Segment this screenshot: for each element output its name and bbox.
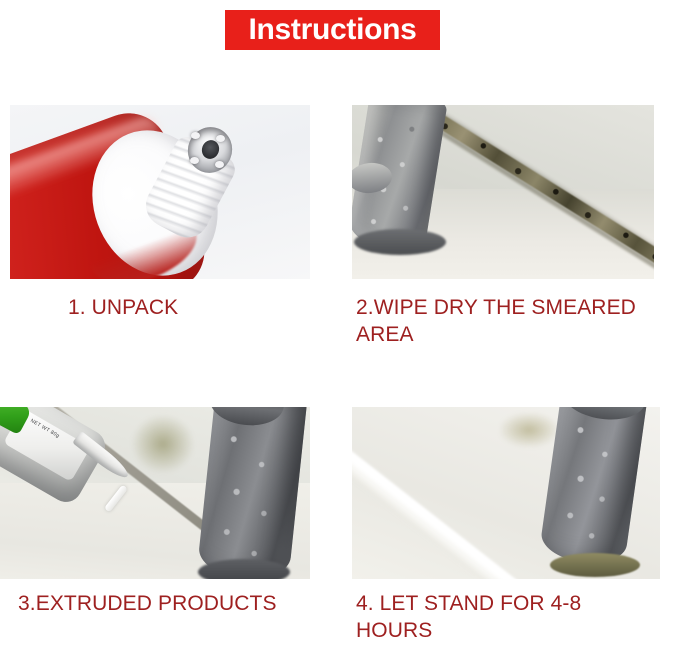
page-title: Instructions [248,15,416,45]
step-3-caption: 3.EXTRUDED PRODUCTS [18,591,310,618]
grime-patch [500,413,558,447]
step-1-caption: 1. UNPACK [68,295,310,322]
faucet-base [550,553,640,577]
step-4-photo [352,407,660,579]
step-2: 2.WIPE DRY THE SMEARED AREA [352,105,654,349]
nozzle-notch [190,157,199,164]
step-3: NET WT 80g 3.EXTRUDED PRODUCTS [0,407,310,618]
step-3-photo: NET WT 80g [0,407,310,579]
faucet-base [354,229,446,255]
step-2-photo [352,105,654,279]
step-1: 1. UNPACK [10,105,310,322]
instructions-banner: Instructions [225,10,440,50]
nozzle-notch [191,132,200,139]
nozzle-notch [215,161,224,168]
grime-patch [132,415,194,473]
step-4-caption: 4. LET STAND FOR 4-8 HOURS [356,591,660,645]
step-4: 4. LET STAND FOR 4-8 HOURS [352,407,660,645]
faucet-base [198,559,290,579]
step-2-caption: 2.WIPE DRY THE SMEARED AREA [356,295,654,349]
nozzle-notch [216,135,225,142]
step-1-photo [10,105,310,279]
faucet-texture [197,407,308,579]
